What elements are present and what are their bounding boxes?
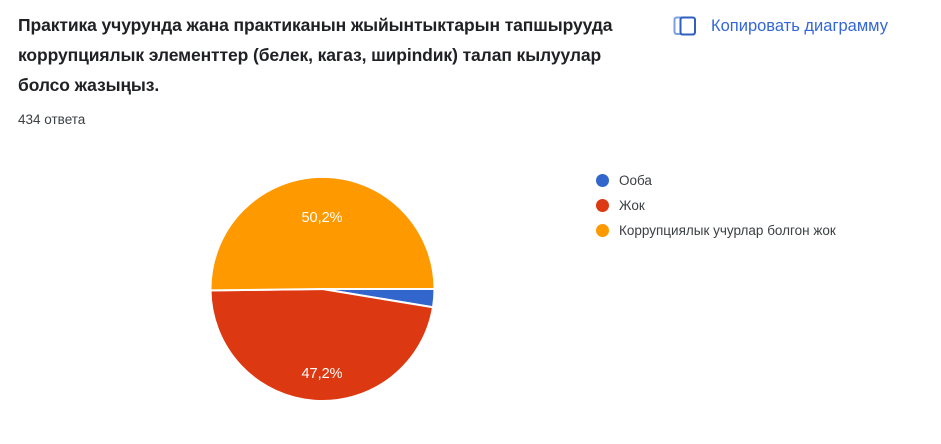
pie-chart: 50,2% 47,2% bbox=[190, 162, 455, 412]
pie-slice[interactable] bbox=[211, 177, 435, 290]
pie-slice[interactable] bbox=[211, 289, 433, 401]
copy-icon bbox=[672, 13, 698, 39]
chart-area: 50,2% 47,2% ОобаЖокКоррупциялык учурлар … bbox=[0, 150, 941, 430]
legend-swatch-icon bbox=[596, 174, 609, 187]
legend-item[interactable]: Жок bbox=[596, 197, 836, 214]
legend-item-label: Ооба bbox=[619, 172, 652, 189]
chart-legend: ОобаЖокКоррупциялык учурлар болгон жок bbox=[596, 172, 836, 239]
legend-item[interactable]: Коррупциялык учурлар болгон жок bbox=[596, 222, 836, 239]
legend-item-label: Жок bbox=[619, 197, 645, 214]
slice-label-orange: 50,2% bbox=[301, 210, 342, 226]
response-count: 434 ответа bbox=[18, 111, 618, 129]
chart-card: Практика учурунда жана практиканын жыйын… bbox=[0, 0, 941, 444]
legend-item[interactable]: Ооба bbox=[596, 172, 836, 189]
copy-chart-button[interactable]: Копировать диаграмму bbox=[668, 11, 892, 41]
question-header: Практика учурунда жана практиканын жыйын… bbox=[18, 10, 618, 129]
legend-swatch-icon bbox=[596, 224, 609, 237]
legend-swatch-icon bbox=[596, 199, 609, 212]
slice-label-red: 47,2% bbox=[301, 366, 342, 382]
copy-chart-label: Копировать диаграмму bbox=[711, 15, 888, 37]
legend-item-label: Коррупциялык учурлар болгон жок bbox=[619, 222, 836, 239]
question-title: Практика учурунда жана практиканын жыйын… bbox=[18, 10, 618, 100]
